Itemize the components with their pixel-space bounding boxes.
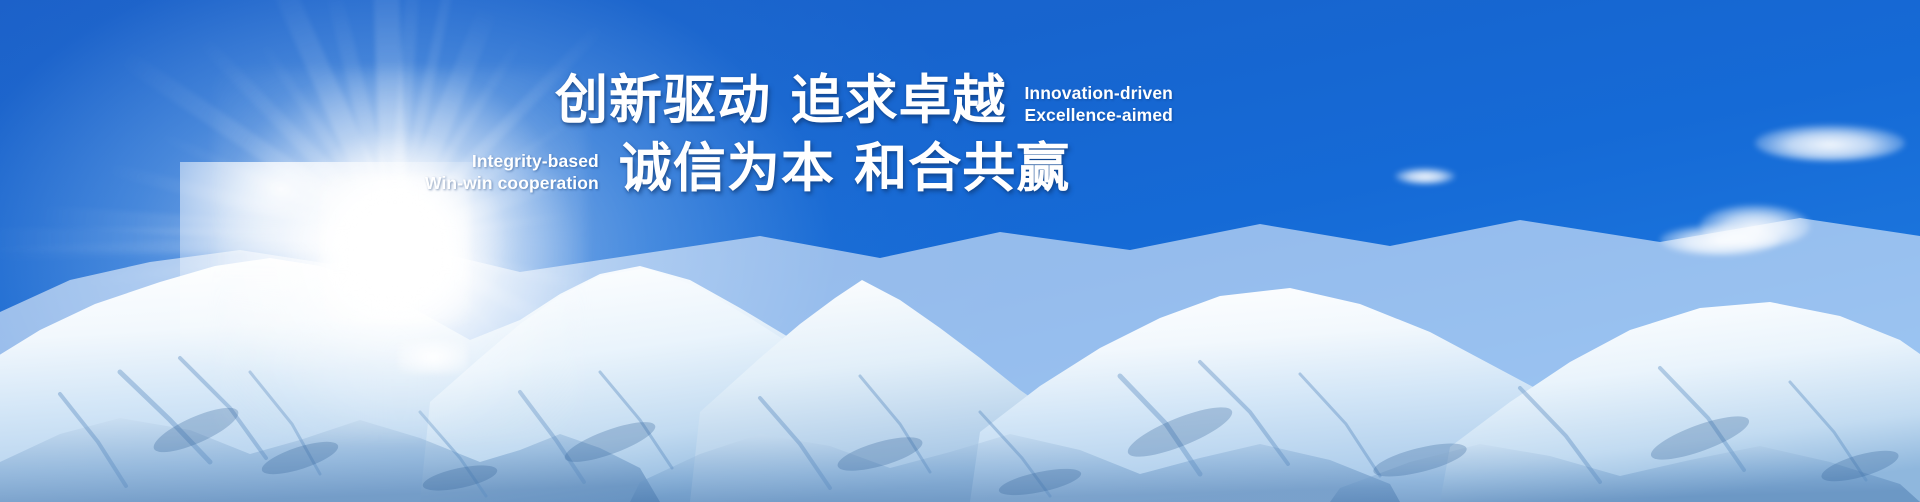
slogan-line-2-chinese: 诚信为本 和合共赢	[619, 140, 1070, 198]
cloud-upper-right	[1755, 125, 1905, 161]
slogan-line-1-english-row-1: Innovation-driven	[1024, 82, 1173, 104]
snow-mountain-range	[0, 162, 1920, 502]
slogan-line-1-chinese: 创新驱动 追求卓越	[555, 72, 1006, 130]
hero-banner: 创新驱动 追求卓越 Innovation-driven Excellence-a…	[0, 0, 1920, 502]
slogan-line-1: 创新驱动 追求卓越 Innovation-driven Excellence-a…	[555, 72, 1173, 130]
slogan-line-1-english-row-2: Excellence-aimed	[1024, 104, 1173, 126]
slogan-line-2-english-row-1: Integrity-based	[425, 150, 599, 172]
slogan-line-1-english: Innovation-driven Excellence-aimed	[1024, 82, 1173, 130]
slogan-line-2: Integrity-based Win-win cooperation 诚信为本…	[425, 140, 1070, 198]
slogan-line-2-english-row-2: Win-win cooperation	[425, 172, 599, 194]
sun-haze-overlay	[180, 162, 640, 502]
slogan-line-2-english: Integrity-based Win-win cooperation	[425, 150, 599, 198]
